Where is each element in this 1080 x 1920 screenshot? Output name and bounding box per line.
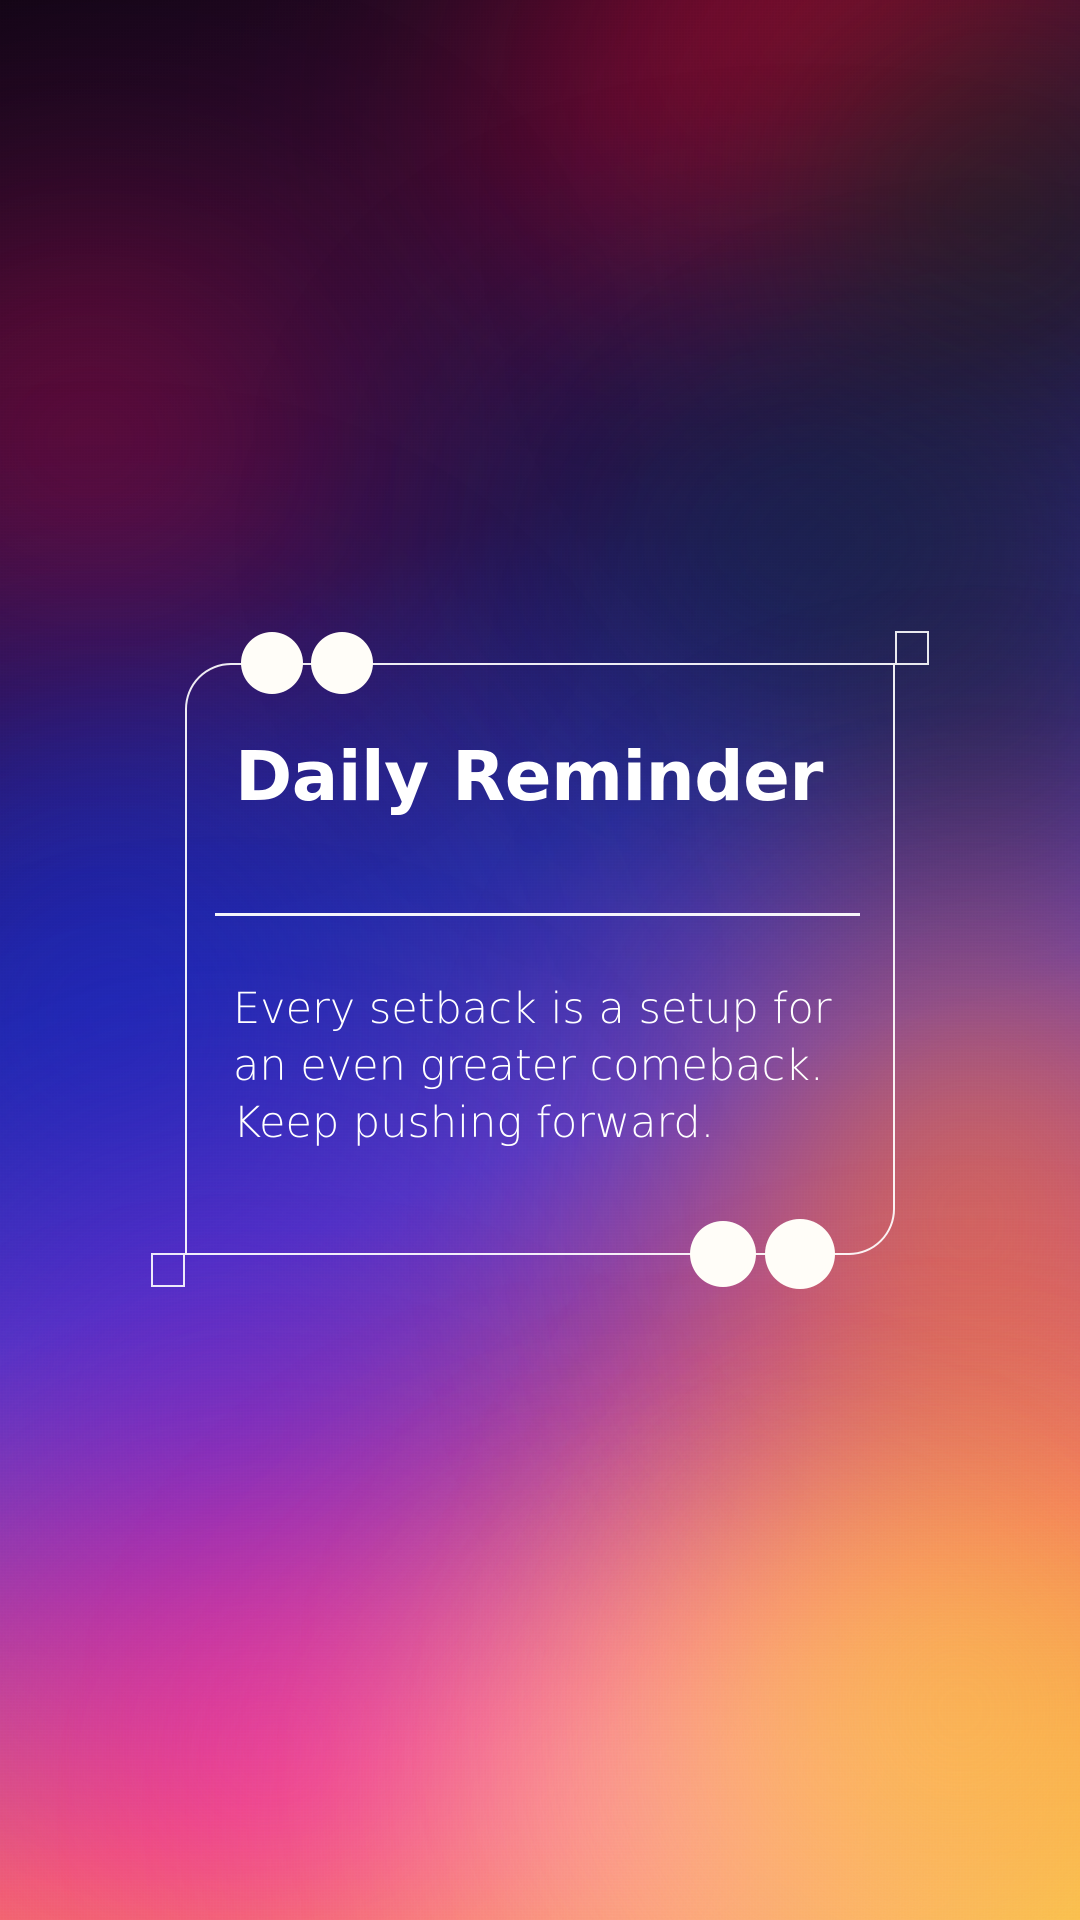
quote-line-2: an even greater comeback. [233, 1038, 853, 1095]
quote-card: Daily Reminder Every setback is a setup … [185, 663, 895, 1255]
quote-text: Every setback is a setup for an even gre… [233, 981, 853, 1153]
title-divider-rule [215, 913, 860, 916]
top-dot-left [241, 632, 303, 694]
page-title: Daily Reminder [235, 741, 823, 813]
top-right-accent-square [895, 631, 929, 665]
quote-line-3: Keep pushing forward. [233, 1095, 853, 1152]
bottom-dot-right [765, 1219, 835, 1289]
bottom-dot-left [690, 1221, 756, 1287]
top-dot-right [311, 632, 373, 694]
poster-canvas: Daily Reminder Every setback is a setup … [0, 0, 1080, 1920]
bottom-left-accent-square [151, 1253, 185, 1287]
quote-line-1: Every setback is a setup for [233, 981, 853, 1038]
